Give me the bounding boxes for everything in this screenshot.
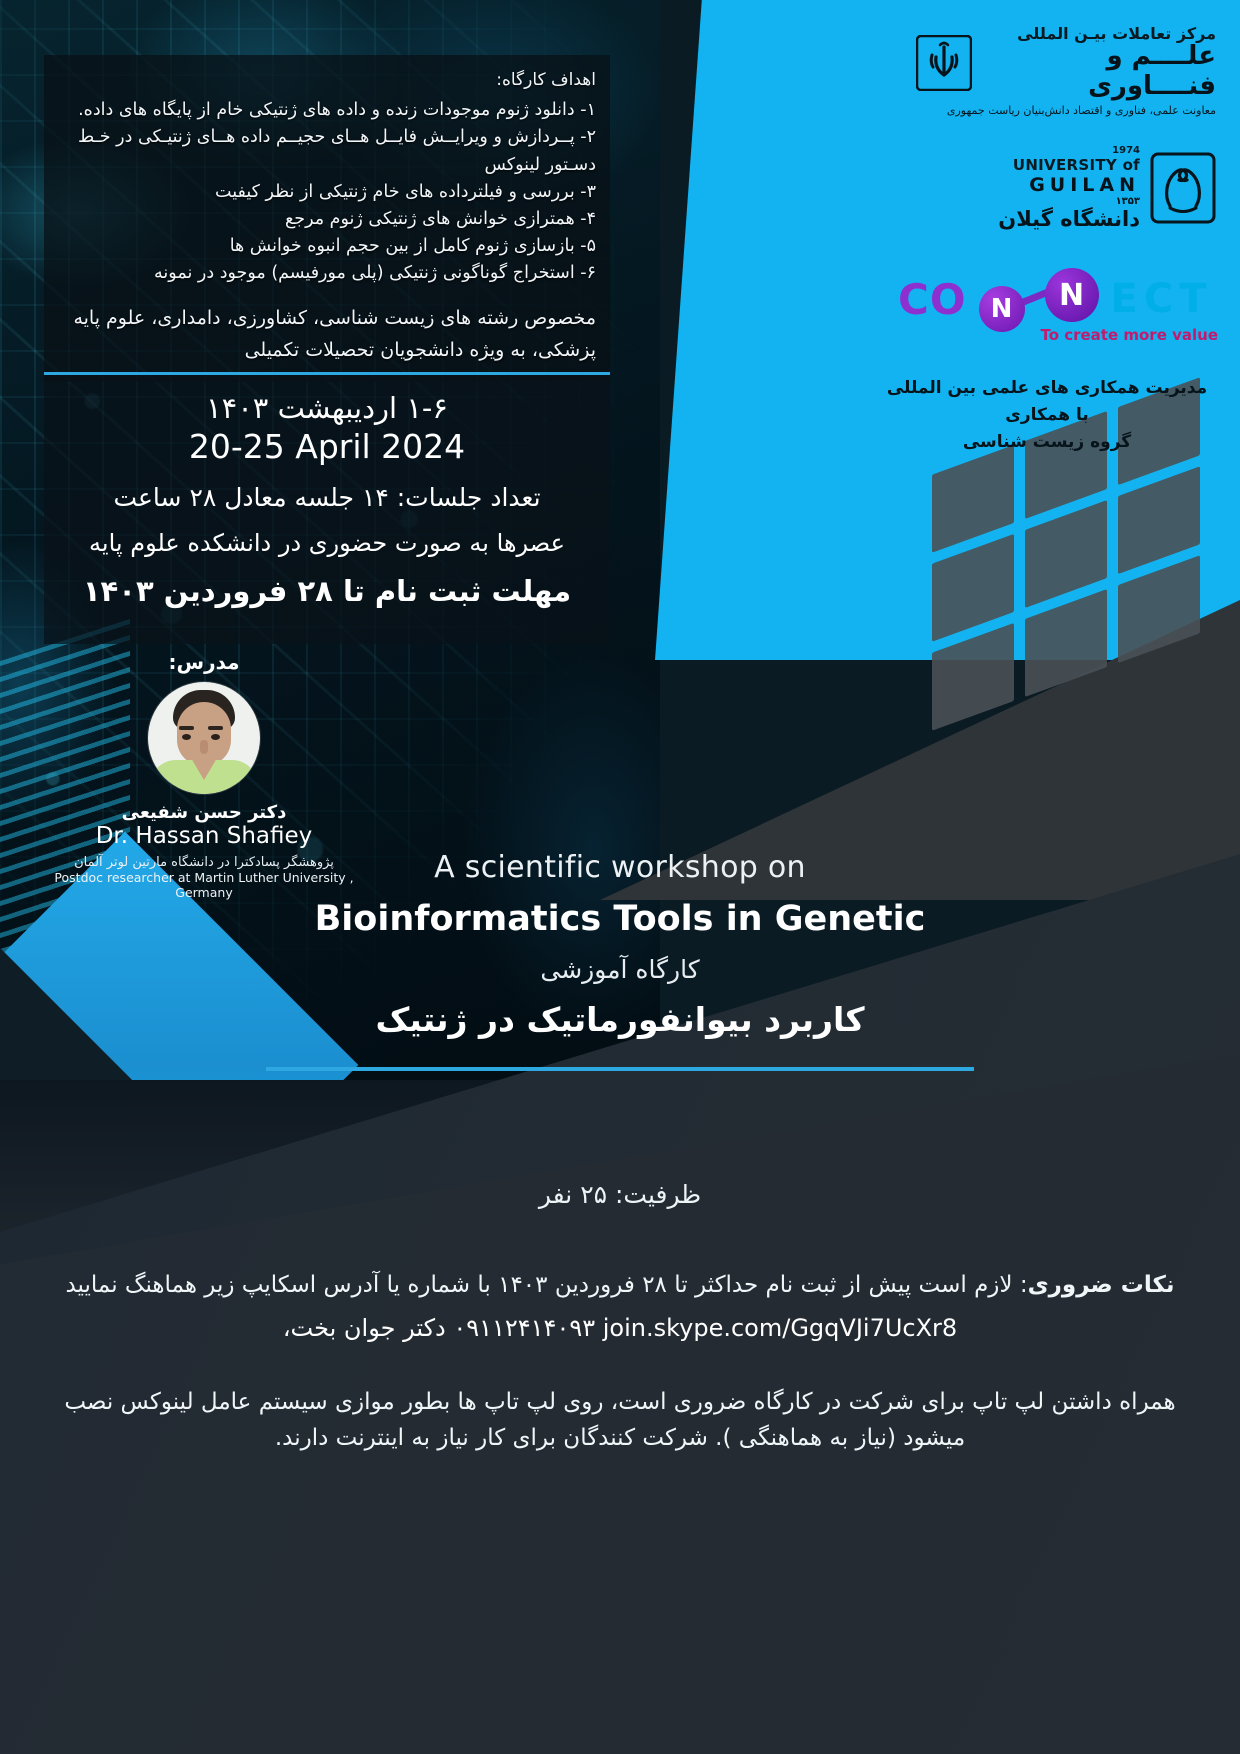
title-en-main: Bioinformatics Tools in Genetic [0,899,1240,939]
goal-item-6: ۶- استخراج گوناگونی ژنتیکی (پلی مورفیسم)… [58,260,596,287]
audience-line-1: مخصوص رشته های زیست شناسی، کشاورزی، دامد… [58,303,596,334]
connect-node-2: N [1045,268,1099,322]
instructor-name-fa: دکتر حسن شفیعی [44,802,364,823]
guilan-line-fa: دانشگاه گیلان [998,207,1140,231]
guilan-year-en: 1974 [998,145,1140,156]
title-divider [266,1067,974,1071]
goal-item-1: ۱- دانلود ژنوم موجودات زنده و داده های ژ… [58,97,596,124]
connect-logo: CO N N ECT To create more value [898,268,1218,344]
connect-prefix: CO [898,275,967,324]
organizers-block: مدیریت همکاری های علمی بین المللی با همک… [882,375,1212,457]
title-en-lead: A scientific workshop on [0,850,1240,885]
iran-emblem-icon [916,35,972,91]
isti-logo: مرکز تعاملات بیـن المللی علــــم و فنـــ… [916,24,1216,117]
registration-deadline: مهلت ثبت نام تا ۲۸ فروردین ۱۴۰۳ [62,571,592,612]
instructor-name-en: Dr. Hassan Shafiey [44,823,364,851]
date-english: 20-25 April 2024 [62,426,592,467]
instructor-avatar [148,682,260,794]
connect-node-1: N [979,286,1025,332]
goal-item-2: ۲- پــردازش و ویرایــش فایــل هــای حجیـ… [58,124,596,178]
session-count: تعداد جلسات: ۱۴ جلسه معادل ۲۸ ساعت [62,479,592,517]
organizer-line-3: گروه زیست شناسی [882,429,1212,456]
footer-notes: نکات ضروری: لازم است پیش از ثبت نام حداک… [40,1268,1200,1457]
capacity-text: ظرفیت: ۲۵ نفر [0,1180,1240,1209]
guilan-university-logo: 1974 UNIVERSITY of GUILAN ۱۳۵۳ دانشگاه گ… [916,145,1216,231]
organizer-line-2: با همکاری [882,402,1212,429]
guilan-line-2: GUILAN [998,174,1140,196]
guilan-crest-icon [1150,152,1216,224]
essential-notes-label: نکات ضروری [1028,1272,1175,1298]
title-fa-lead: کارگاه آموزشی [0,955,1240,984]
title-fa-main: کاربرد بیوانفورماتیک در ژنتیک [0,1000,1240,1039]
goal-item-5: ۵- بازسازی ژنوم کامل از بین حجم انبوه خو… [58,233,596,260]
contact-line: join.skype.com/GgqVJi7UcXr8 ۰۹۱۱۲۴۱۴۰۹۳ … [40,1310,1200,1346]
audience-line-2: پزشکی، به ویژه دانشجویان تحصیلات تکمیلی [58,335,596,366]
molecule-icon: N N [967,268,1107,330]
skype-link[interactable]: join.skype.com/GgqVJi7UcXr8 [603,1310,957,1346]
essential-notes-line: نکات ضروری: لازم است پیش از ثبت نام حداک… [40,1268,1200,1304]
workshop-goals-panel: اهداف کارگاه: ۱- دانلود ژنوم موجودات زند… [44,55,610,382]
goal-item-4: ۴- همترازی خوانش های ژنتیکی ژنوم مرجع [58,206,596,233]
workshop-poster: اهداف کارگاه: ۱- دانلود ژنوم موجودات زند… [0,0,1240,1754]
isti-line-2: علــــم و فنــــاوری [982,41,1216,101]
guilan-year-fa: ۱۳۵۳ [998,196,1140,207]
connect-suffix: ECT [1111,276,1213,322]
essential-notes-rest: : لازم است پیش از ثبت نام حداکثر تا ۲۸ ف… [65,1272,1027,1298]
organizer-line-1: مدیریت همکاری های علمی بین المللی [882,375,1212,402]
goals-heading: اهداف کارگاه: [58,67,596,93]
instructor-label: مدرس: [44,650,364,674]
contact-phone: ۰۹۱۱۲۴۱۴۰۹۳ دکتر جوان بخت، [283,1314,595,1342]
requirements-text: همراه داشتن لپ تاپ برای شرکت در کارگاه ض… [40,1384,1200,1458]
date-persian: ۱-۶ اردیبهشت ۱۴۰۳ [62,389,592,428]
title-block: A scientific workshop on Bioinformatics … [0,850,1240,1071]
guilan-line-1: UNIVERSITY of [998,156,1140,174]
goal-item-3: ۳- بررسی و فیلترداده های خام ژنتیکی از ن… [58,179,596,206]
schedule-panel: ۱-۶ اردیبهشت ۱۴۰۳ 20-25 April 2024 تعداد… [44,372,610,644]
isti-line-3: معاونت علمی، فناوری و اقتصاد دانش‌بنیان … [916,104,1216,117]
location-info: عصرها به صورت حضوری در دانشکده علوم پایه [62,525,592,561]
